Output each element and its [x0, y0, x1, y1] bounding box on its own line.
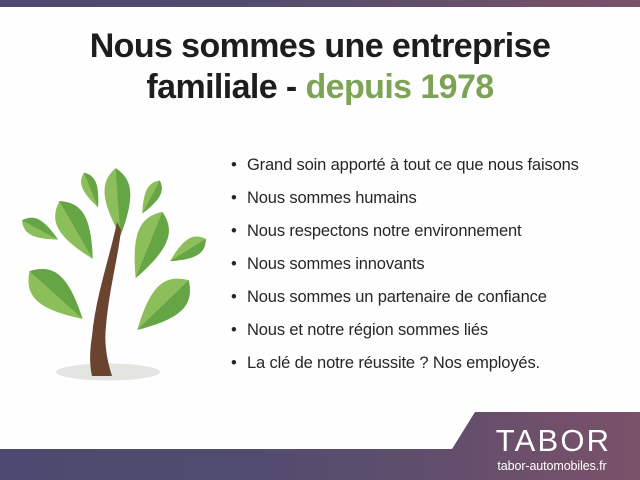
logo-wordmark: TABOR [472, 424, 632, 457]
bullet-marker-icon: • [231, 218, 241, 245]
list-item-label: Grand soin apporté à tout ce que nous fa… [247, 156, 579, 174]
bullet-marker-icon: • [231, 284, 241, 311]
headline-line-2-plain: familiale - [146, 68, 305, 106]
list-item: • Nous respectons notre environnement [230, 218, 630, 251]
tree-trunk [90, 222, 121, 376]
headline-line-1: Nous sommes une entreprise [0, 26, 640, 67]
bullet-marker-icon: • [231, 350, 241, 377]
bullet-marker-icon: • [231, 152, 241, 179]
list-item: • Nous sommes innovants [230, 251, 630, 284]
slide-canvas: Nous sommes une entreprise familiale - d… [0, 0, 640, 480]
list-item-label: Nous sommes innovants [247, 255, 425, 273]
page-title: Nous sommes une entreprise familiale - d… [0, 26, 640, 108]
tree-illustration [8, 150, 223, 390]
brand-logo[interactable]: TABOR tabor-automobiles.fr [472, 424, 632, 474]
bullet-marker-icon: • [231, 317, 241, 344]
list-item-label: La clé de notre réussite ? Nos employés. [247, 354, 540, 372]
headline-line-2: familiale - depuis 1978 [0, 67, 640, 108]
bullet-marker-icon: • [231, 251, 241, 278]
list-item-label: Nous respectons notre environnement [247, 222, 522, 240]
list-item: • Nous sommes humains [230, 185, 630, 218]
headline-accent: depuis 1978 [306, 68, 494, 106]
list-item: • La clé de notre réussite ? Nos employé… [230, 350, 630, 383]
list-item-label: Nous sommes un partenaire de confiance [247, 288, 547, 306]
top-accent-stripe [0, 0, 640, 7]
logo-tagline: tabor-automobiles.fr [472, 458, 632, 474]
list-item: • Nous et notre région sommes liés [230, 317, 630, 350]
bullet-marker-icon: • [231, 185, 241, 212]
list-item: • Nous sommes un partenaire de confiance [230, 284, 630, 317]
benefits-list: • Grand soin apporté à tout ce que nous … [230, 152, 630, 383]
list-item-label: Nous et notre région sommes liés [247, 321, 488, 339]
list-item-label: Nous sommes humains [247, 189, 417, 207]
list-item: • Grand soin apporté à tout ce que nous … [230, 152, 630, 185]
